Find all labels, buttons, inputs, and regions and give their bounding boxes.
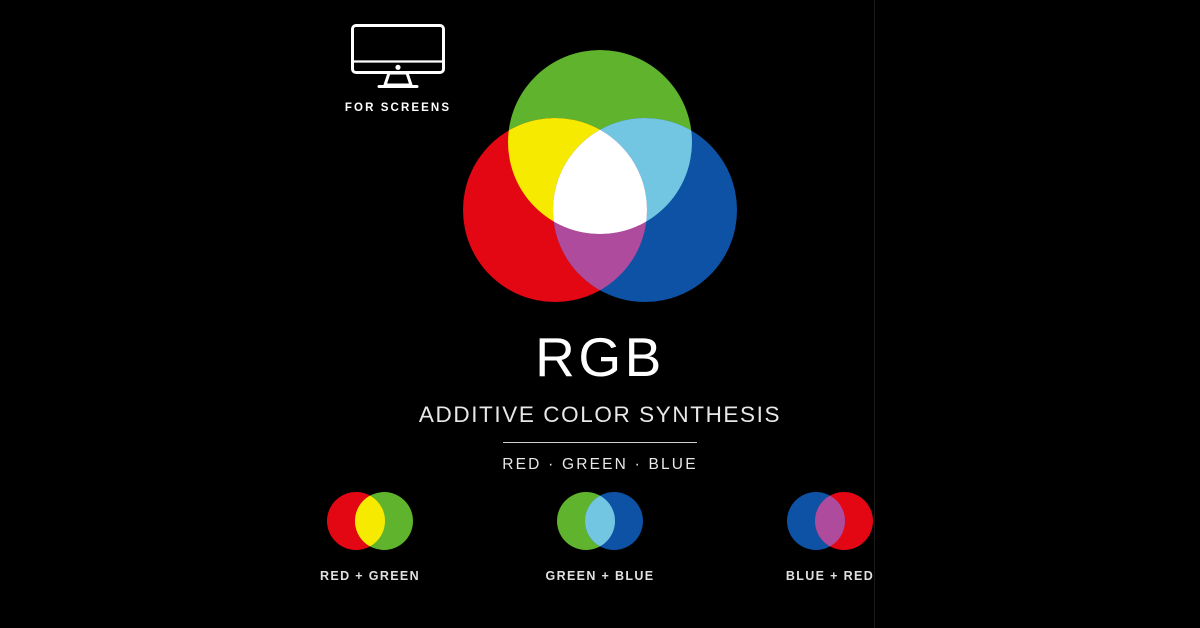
rgb-infographic: FOR SCREENS RGB xyxy=(0,0,1200,628)
pair-blue-red-venn xyxy=(780,490,880,552)
pair-red-green: RED + GREEN xyxy=(300,490,440,583)
color-triplet-label: RED · GREEN · BLUE xyxy=(502,457,698,473)
pair-green-blue: GREEN + BLUE xyxy=(530,490,670,583)
for-screens-badge: FOR SCREENS xyxy=(346,22,450,114)
pair-red-green-venn xyxy=(320,490,420,552)
pair-blue-red: BLUE + RED xyxy=(760,490,900,583)
pair-blue-red-label: BLUE + RED xyxy=(786,569,874,583)
headline-block: RGB ADDITIVE COLOR SYNTHESIS RED · GREEN… xyxy=(0,330,1200,473)
additive-color-venn xyxy=(455,42,745,320)
pair-green-blue-label: GREEN + BLUE xyxy=(546,569,655,583)
pair-green-blue-venn xyxy=(550,490,650,552)
pair-red-green-label: RED + GREEN xyxy=(320,569,420,583)
pair-diagrams-row: RED + GREEN GREEN + BLUE B xyxy=(300,490,900,583)
for-screens-label: FOR SCREENS xyxy=(345,102,451,114)
headline-divider xyxy=(503,442,697,444)
monitor-icon xyxy=(348,22,448,92)
page-subtitle: ADDITIVE COLOR SYNTHESIS xyxy=(419,404,781,427)
page-title: RGB xyxy=(535,330,665,385)
